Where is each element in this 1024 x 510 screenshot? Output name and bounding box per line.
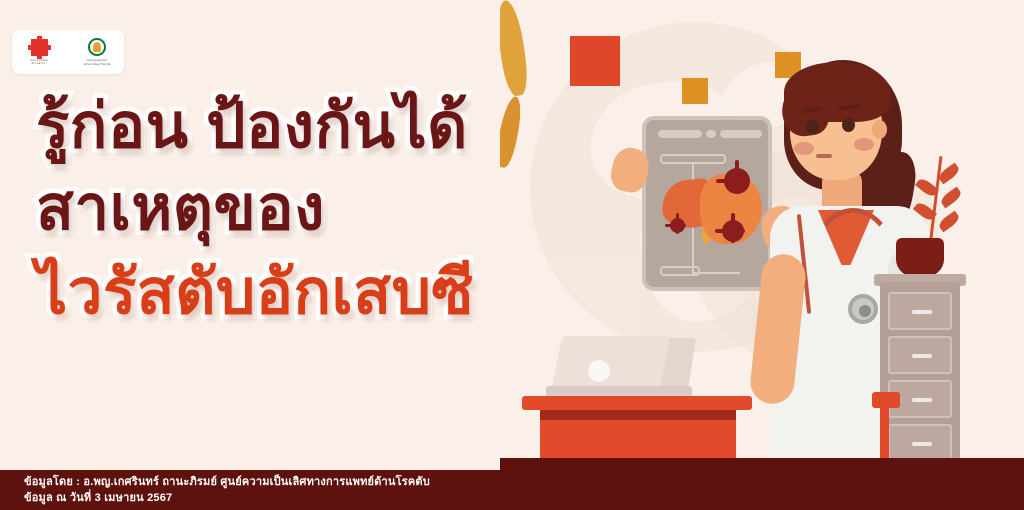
logo-seal-label: คณะแพทยศาสตร์ จุฬาลงกรณ์มหาวิทยาลัย [83, 59, 110, 65]
doctor-cheek [854, 138, 874, 151]
tablet-ui-bar [660, 266, 700, 276]
cabinet-drawer[interactable] [888, 424, 952, 462]
virus-icon [670, 218, 685, 233]
medical-tablet [642, 116, 772, 291]
drawer-handle [912, 398, 932, 402]
tablet-ui-bar [658, 130, 702, 138]
doctor-eye [806, 120, 819, 134]
red-cross-icon [31, 39, 48, 56]
cabinet-drawer[interactable] [888, 336, 952, 374]
footer-source-line: ข้อมูลโดย : อ.พญ.เกศรินทร์ ถานะภิรมย์ ศู… [24, 474, 1024, 491]
tablet-ui-bar [660, 154, 726, 164]
desk-surface [522, 396, 752, 410]
headline-line-1: รู้ก่อน ป้องกันได้ [36, 96, 540, 158]
logo-seal: คณะแพทยศาสตร์ จุฬาลงกรณ์มหาวิทยาลัย [73, 38, 121, 65]
doctor-cheek [794, 142, 814, 155]
filing-cabinet [880, 282, 960, 470]
green-seal-icon [88, 38, 106, 56]
virus-icon [722, 220, 744, 242]
plant-leaf [500, 0, 531, 97]
drawer-handle [912, 442, 932, 446]
tablet-ui-bar [720, 130, 762, 138]
awareness-banner: สภากาชาดไทย สถานเสาวภา คณะแพทยศาสตร์ จุฬ… [0, 0, 1024, 510]
logo-redcross: สภากาชาดไทย สถานเสาวภา [15, 39, 63, 65]
drawer-handle [912, 354, 932, 358]
tablet-callout-line [692, 272, 740, 274]
liver-illustration [662, 170, 762, 256]
doctor-eye [842, 118, 855, 132]
cabinet-drawer[interactable] [888, 292, 952, 330]
drawer-handle [912, 310, 932, 314]
stethoscope-chestpiece [848, 294, 878, 324]
doctor-ear [872, 120, 887, 139]
medical-cross-icon [570, 36, 620, 86]
virus-icon [724, 168, 750, 194]
clipboard [872, 392, 900, 408]
headline-line-2: สาเหตุของ [36, 178, 540, 240]
doctor-mouth [816, 154, 832, 158]
illustration-panel [500, 0, 1024, 470]
plant-pot [896, 238, 944, 278]
headline-line-3: ไวรัสตับอักเสบซี [36, 262, 540, 324]
floor-strip [500, 458, 1024, 470]
footer-date-line: ข้อมูล ณ วันที่ 3 เมษายน 2567 [24, 490, 1024, 507]
headline-group: รู้ก่อน ป้องกันได้ สาเหตุของ ไวรัสตับอัก… [0, 96, 540, 324]
tablet-ui-bar [706, 130, 716, 138]
laptop-screen-highlight [588, 360, 610, 382]
footer-bar: ข้อมูลโดย : อ.พญ.เกศรินทร์ ถานะภิรมย์ ศู… [0, 470, 1024, 510]
medical-cross-icon [682, 78, 708, 104]
desk-shadow [540, 410, 736, 420]
logo-redcross-label: สภากาชาดไทย สถานเสาวภา [30, 59, 47, 65]
clipboard-stand [880, 404, 889, 462]
organization-logo-card: สภากาชาดไทย สถานเสาวภา คณะแพทยศาสตร์ จุฬ… [12, 30, 124, 74]
